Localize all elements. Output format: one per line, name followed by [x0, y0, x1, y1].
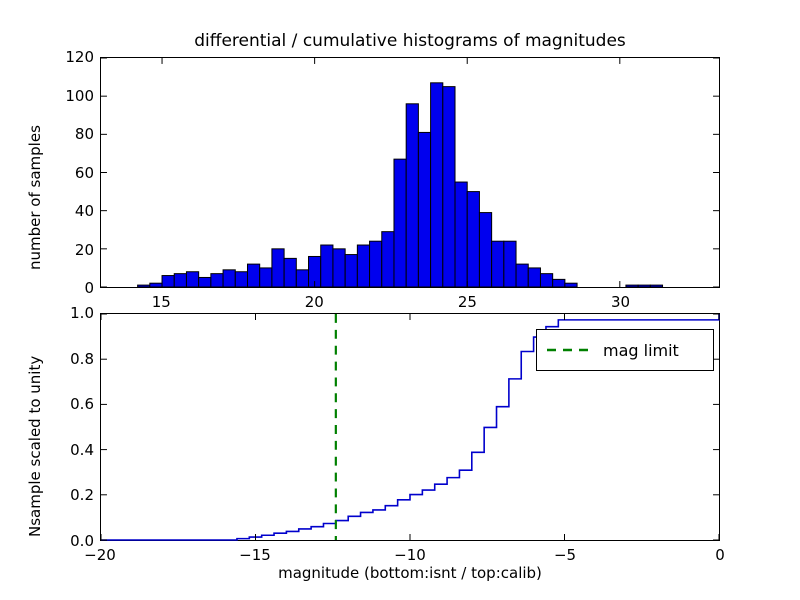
- histogram-bar: [504, 241, 516, 287]
- histogram-bar: [565, 283, 577, 287]
- top-y-tick-label: 0: [84, 279, 94, 297]
- histogram-bar: [479, 213, 491, 287]
- bottom-x-tick-label: −10: [394, 546, 426, 564]
- bottom-y-tick-label: 1.0: [70, 304, 94, 322]
- histogram-bar: [516, 264, 528, 287]
- histogram-bar: [382, 232, 394, 287]
- top-y-tick-label: 80: [75, 125, 94, 143]
- histogram-bar: [199, 277, 211, 287]
- histogram-plot: [101, 58, 719, 287]
- histogram-bar: [626, 285, 638, 287]
- top-x-tick-label: 15: [152, 293, 171, 311]
- bottom-y-tick-label: 0.8: [70, 350, 94, 368]
- chart-title: differential / cumulative histograms of …: [100, 31, 720, 51]
- top-y-tick-label: 120: [65, 48, 94, 66]
- top-x-tick-label: 25: [458, 293, 477, 311]
- legend-label-mag-limit: mag limit: [603, 341, 679, 360]
- histogram-bar: [296, 270, 308, 287]
- histogram-bar: [443, 87, 455, 287]
- histogram-bar: [247, 264, 259, 287]
- histogram-bar: [357, 245, 369, 287]
- histogram-bar: [223, 270, 235, 287]
- figure-canvas: differential / cumulative histograms of …: [0, 0, 800, 600]
- bottom-x-tick-label: −20: [84, 546, 116, 564]
- top-y-tick-label: 20: [75, 241, 94, 259]
- histogram-bar: [406, 104, 418, 287]
- top-x-tick-label: 30: [611, 293, 630, 311]
- histogram-bar: [455, 182, 467, 287]
- histogram-bar: [370, 241, 382, 287]
- histogram-bar: [174, 274, 186, 287]
- bottom-y-tick-label: 0.2: [70, 486, 94, 504]
- histogram-bar: [418, 132, 430, 287]
- legend: mag limit: [536, 329, 714, 371]
- histogram-bar: [650, 285, 662, 287]
- top-y-tick-label: 60: [75, 164, 94, 182]
- histogram-bar: [211, 274, 223, 287]
- histogram-bar: [150, 283, 162, 287]
- bottom-x-tick-label: 0: [715, 546, 725, 564]
- histogram-bar: [321, 245, 333, 287]
- histogram-bar: [162, 276, 174, 287]
- histogram-bar: [528, 268, 540, 287]
- histogram-bar: [272, 249, 284, 287]
- top-panel-y-axis-label: number of samples: [26, 125, 44, 270]
- histogram-bar: [284, 258, 296, 287]
- histogram-bar: [235, 272, 247, 287]
- x-axis-label: magnitude (bottom:isnt / top:calib): [100, 564, 720, 582]
- histogram-bar: [467, 192, 479, 287]
- bottom-y-tick-label: 0.4: [70, 441, 94, 459]
- histogram-bar: [260, 268, 272, 287]
- top-y-tick-label: 100: [65, 87, 94, 105]
- histogram-bar: [638, 285, 650, 287]
- top-panel-histogram-axes: [100, 57, 720, 288]
- histogram-bar: [431, 83, 443, 287]
- bottom-panel-y-axis-label: Nsample scaled to unity: [26, 356, 44, 537]
- histogram-bar: [394, 159, 406, 287]
- histogram-bar: [553, 279, 565, 287]
- top-x-tick-label: 20: [305, 293, 324, 311]
- bottom-x-tick-label: −15: [239, 546, 271, 564]
- bottom-y-tick-label: 0.6: [70, 395, 94, 413]
- histogram-bar: [138, 285, 150, 287]
- histogram-bar: [333, 249, 345, 287]
- histogram-bar: [540, 274, 552, 287]
- mag-limit-line-swatch: [545, 343, 593, 357]
- histogram-bar: [186, 272, 198, 287]
- histogram-bar: [492, 241, 504, 287]
- top-y-tick-label: 40: [75, 202, 94, 220]
- bottom-x-tick-label: −5: [554, 546, 576, 564]
- histogram-bar: [345, 255, 357, 287]
